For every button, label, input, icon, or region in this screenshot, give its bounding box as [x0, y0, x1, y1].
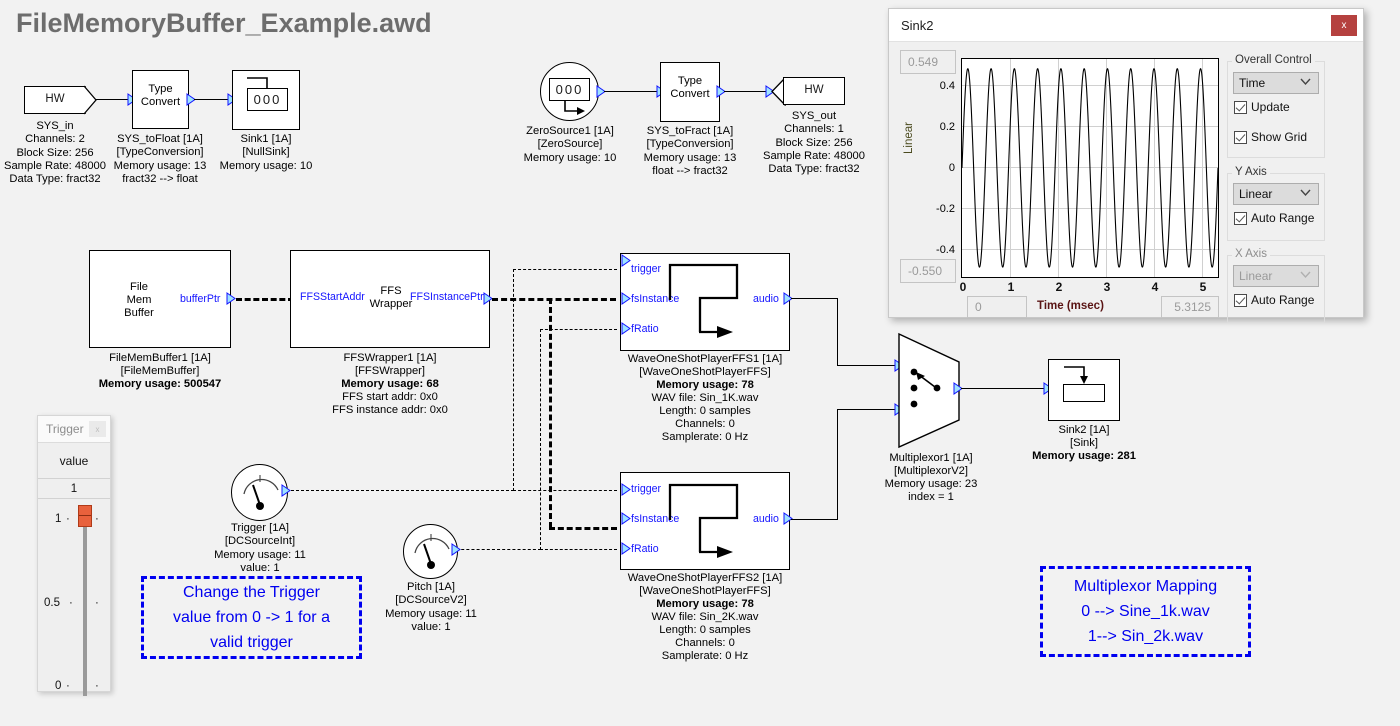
wire-tofract-sysout — [724, 91, 769, 92]
trigger-panel-title: Trigger — [46, 422, 84, 436]
x-auto-range-label: Auto Range — [1251, 293, 1314, 307]
wire-trigger-horizontal — [281, 490, 514, 491]
trigger-panel-value[interactable]: 1 — [38, 479, 110, 499]
x-tick-4: 4 — [1147, 280, 1163, 294]
sys-out-label: HW — [783, 84, 845, 96]
y-tick-neg0.4: -0.4 — [927, 244, 955, 256]
player2-caption-7: Samplerate: 0 Hz — [615, 650, 795, 663]
x-tick-5: 5 — [1195, 280, 1211, 294]
wire-zerosource-tofract — [604, 91, 660, 92]
x-max-readout[interactable]: 5.3125 — [1161, 296, 1219, 318]
slider-thumb[interactable] — [78, 505, 92, 527]
sink2-titlebar: Sink2 x — [889, 9, 1363, 42]
sink2-caption-3: Memory usage: 281 — [1014, 450, 1154, 463]
zerosource-caption: ZeroSource1 [1A] [ZeroSource] Memory usa… — [510, 125, 630, 165]
chevron-down-icon — [1300, 189, 1311, 197]
multiplexor-caption-2: [MultiplexorV2] — [872, 465, 990, 478]
wire-pitch-horizontal — [451, 549, 541, 550]
note-trigger: Change the Trigger value from 0 -> 1 for… — [141, 576, 362, 659]
wire-mux-sink2 — [961, 388, 1044, 389]
sink2-caption-2: [Sink] — [1024, 437, 1144, 450]
trigger-panel[interactable]: Trigger x value 1 1 · · 0.5 · · 0 · · — [37, 415, 111, 692]
player1-waveform-icon — [665, 262, 755, 342]
ffswrapper-port-instanceptr: FFSInstancePtr — [410, 291, 484, 303]
multiplexor-caption-3: Memory usage: 23 — [872, 478, 990, 491]
wire-pitch-to-player1 — [540, 329, 617, 330]
show-grid-checkbox[interactable] — [1234, 131, 1247, 144]
player2-caption-6: Channels: 0 — [615, 637, 795, 650]
wire-fsinstance-top — [492, 298, 616, 301]
tofract-caption: SYS_toFract [1A] [TypeConversion] Memory… — [630, 125, 750, 178]
wire-audio2-a — [791, 519, 838, 520]
player2-port-audio: audio — [753, 513, 779, 525]
slider-tick-2: 0.5 — [44, 597, 60, 609]
wire-pitch-to-player2 — [540, 549, 617, 550]
chevron-down-icon — [1300, 271, 1311, 279]
x-axis-label: Time (msec) — [1037, 300, 1104, 312]
wire-audio1-c — [837, 365, 900, 366]
y-tick-0: 0 — [927, 162, 955, 174]
wire-fsinstance-bottom — [549, 527, 617, 530]
sink1-caption: Sink1 [1A] [NullSink] Memory usage: 10 — [206, 133, 326, 173]
slider-tick-1: 1 — [55, 513, 61, 525]
wire-audio1-a — [791, 298, 838, 299]
x-tick-1: 1 — [1003, 280, 1019, 294]
player1-caption-2: [WaveOneShotPlayerFFS] — [615, 366, 795, 379]
tofloat-caption: SYS_toFloat [1A] [TypeConversion] Memory… — [100, 133, 220, 186]
player1-fratio-port — [621, 322, 631, 335]
sink2-window-title: Sink2 — [901, 18, 934, 33]
note-mux-mapping: Multiplexor Mapping 0 --> Sine_1k.wav 1-… — [1040, 566, 1251, 657]
x-min-readout[interactable]: 0 — [967, 296, 1027, 318]
y-axis-scale-select[interactable]: Linear — [1233, 183, 1319, 205]
y-auto-range-checkbox[interactable] — [1234, 212, 1247, 225]
pitch-source-out-port — [451, 543, 461, 556]
player1-port-audio: audio — [753, 293, 779, 305]
player2-fsinstance-port — [621, 512, 631, 525]
overall-control-group-label: Overall Control — [1232, 54, 1315, 66]
player2-trigger-port — [621, 483, 631, 496]
player2-caption-3: Memory usage: 78 — [615, 598, 795, 611]
player1-caption-6: Channels: 0 — [615, 418, 795, 431]
y-tick-0.4: 0.4 — [927, 80, 955, 92]
trigger-source-out-port — [281, 484, 291, 497]
chevron-down-icon — [1300, 78, 1311, 86]
filemembuffer-caption-2: [FileMemBuffer] — [92, 365, 228, 378]
multiplexor-switch-icon — [902, 368, 960, 416]
sys-in-caption: SYS_in Channels: 2 Block Size: 256 Sampl… — [0, 120, 115, 186]
x-axis-scale-value: Linear — [1239, 269, 1272, 283]
x-auto-range-checkbox[interactable] — [1234, 294, 1247, 307]
ffswrapper-port-startaddr: FFSStartAddr — [300, 291, 365, 303]
zerosource-display: 000 — [549, 78, 590, 101]
tofloat-label: Type Convert — [132, 83, 189, 109]
show-grid-label: Show Grid — [1251, 130, 1307, 144]
multiplexor-caption-4: index = 1 — [872, 491, 990, 504]
wire-fsinstance-drop — [549, 298, 552, 528]
close-icon[interactable]: x — [1331, 15, 1357, 36]
plot-svg — [962, 59, 1218, 277]
wire-audio2-c — [837, 409, 900, 410]
ffswrapper-caption-3: Memory usage: 68 — [320, 378, 460, 391]
close-icon[interactable]: x — [89, 421, 106, 437]
slider-track[interactable] — [83, 511, 87, 696]
wire-bufferptr-ffsstart — [236, 298, 294, 301]
page-title: FileMemoryBuffer_Example.awd — [16, 8, 432, 39]
multiplexor-caption-1: Multiplexor1 [1A] — [872, 452, 990, 465]
ffswrapper-caption-4: FFS start addr: 0x0 — [320, 391, 460, 404]
trigger-panel-titlebar: Trigger x — [38, 416, 110, 443]
filemembuffer-caption-1: FileMemBuffer1 [1A] — [92, 352, 228, 365]
player2-caption-2: [WaveOneShotPlayerFFS] — [615, 585, 795, 598]
zerosource-arrow-icon — [562, 99, 590, 117]
player2-waveform-icon — [665, 482, 755, 562]
tofract-label: Type Convert — [660, 75, 720, 101]
wire-trigger-vertical — [513, 269, 514, 491]
ffswrapper-caption-2: [FFSWrapper] — [320, 365, 460, 378]
overall-control-select[interactable]: Time — [1233, 72, 1319, 94]
player1-caption-5: Length: 0 samples — [615, 405, 795, 418]
wire-audio1-b — [837, 298, 838, 366]
trigger-gauge-icon — [238, 472, 283, 514]
y-axis-group-label: Y Axis — [1232, 166, 1270, 178]
sys-out-caption: SYS_out Channels: 1 Block Size: 256 Samp… — [754, 110, 874, 176]
y-tick-0.2: 0.2 — [927, 121, 955, 133]
player2-port-trigger: trigger — [631, 483, 661, 495]
y-axis-label: Linear — [903, 122, 915, 154]
plot-canvas[interactable] — [961, 58, 1219, 278]
sink2-caption-1: Sink2 [1A] — [1024, 424, 1144, 437]
player2-caption-1: WaveOneShotPlayerFFS2 [1A] — [615, 572, 795, 585]
filemembuffer-label: File Mem Buffer — [89, 281, 189, 320]
wire-pitch-vertical — [540, 329, 541, 550]
ffswrapper-caption-1: FFSWrapper1 [1A] — [320, 352, 460, 365]
player1-trigger-port — [621, 254, 631, 267]
filemembuffer-out-port — [226, 292, 236, 305]
pitch-source-caption: Pitch [1A] [DCSourceV2] Memory usage: 11… — [376, 581, 486, 634]
player1-caption-1: WaveOneShotPlayerFFS1 [1A] — [615, 353, 795, 366]
y-axis-scale-value: Linear — [1239, 187, 1272, 201]
player1-caption-7: Samplerate: 0 Hz — [615, 431, 795, 444]
player1-caption-4: WAV file: Sin_1K.wav — [615, 392, 795, 405]
player1-port-fratio: fRatio — [631, 323, 659, 335]
player2-caption-4: WAV file: Sin_2K.wav — [615, 611, 795, 624]
x-axis-group-label: X Axis — [1232, 248, 1270, 260]
x-axis-scale-select[interactable]: Linear — [1233, 265, 1319, 287]
trigger-source-caption: Trigger [1A] [DCSourceInt] Memory usage:… — [205, 522, 315, 575]
sink2-arrow-icon — [1062, 364, 1107, 386]
player2-port-fratio: fRatio — [631, 543, 659, 555]
filemembuffer-caption-3: Memory usage: 500547 — [82, 378, 238, 391]
player2-fratio-port — [621, 542, 631, 555]
x-tick-2: 2 — [1051, 280, 1067, 294]
y-auto-range-label: Auto Range — [1251, 211, 1314, 225]
y-min-readout[interactable]: -0.550 — [900, 259, 956, 283]
ffswrapper-caption-5: FFS instance addr: 0x0 — [310, 404, 470, 417]
y-max-readout[interactable]: 0.549 — [900, 50, 956, 74]
slider-tick-3: 0 — [55, 680, 61, 692]
trigger-panel-value-label: value — [38, 444, 110, 479]
update-label: Update — [1251, 100, 1290, 114]
sink2-display — [1063, 384, 1105, 402]
x-tick-3: 3 — [1099, 280, 1115, 294]
filemembuffer-port-bufferptr: bufferPtr — [180, 293, 220, 305]
pitch-gauge-icon — [409, 531, 454, 573]
player1-port-trigger: trigger — [631, 263, 661, 275]
overall-control-select-value: Time — [1239, 76, 1265, 90]
player1-caption-3: Memory usage: 78 — [615, 379, 795, 392]
update-checkbox[interactable] — [1234, 101, 1247, 114]
sys-in-label: HW — [24, 93, 86, 105]
y-tick-neg0.2: -0.2 — [927, 203, 955, 215]
sink1-display: 000 — [247, 88, 288, 111]
x-tick-0: 0 — [955, 280, 971, 294]
wire-trigger-to-player2 — [513, 490, 617, 491]
player1-fsinstance-port — [621, 292, 631, 305]
wire-audio2-b — [837, 409, 838, 520]
wire-trigger-to-player1 — [513, 269, 617, 270]
player2-caption-5: Length: 0 samples — [615, 624, 795, 637]
sink2-plot-window[interactable]: Sink2 x 0.549 -0.550 0 5.3125 Linear 0.4… — [888, 8, 1364, 318]
